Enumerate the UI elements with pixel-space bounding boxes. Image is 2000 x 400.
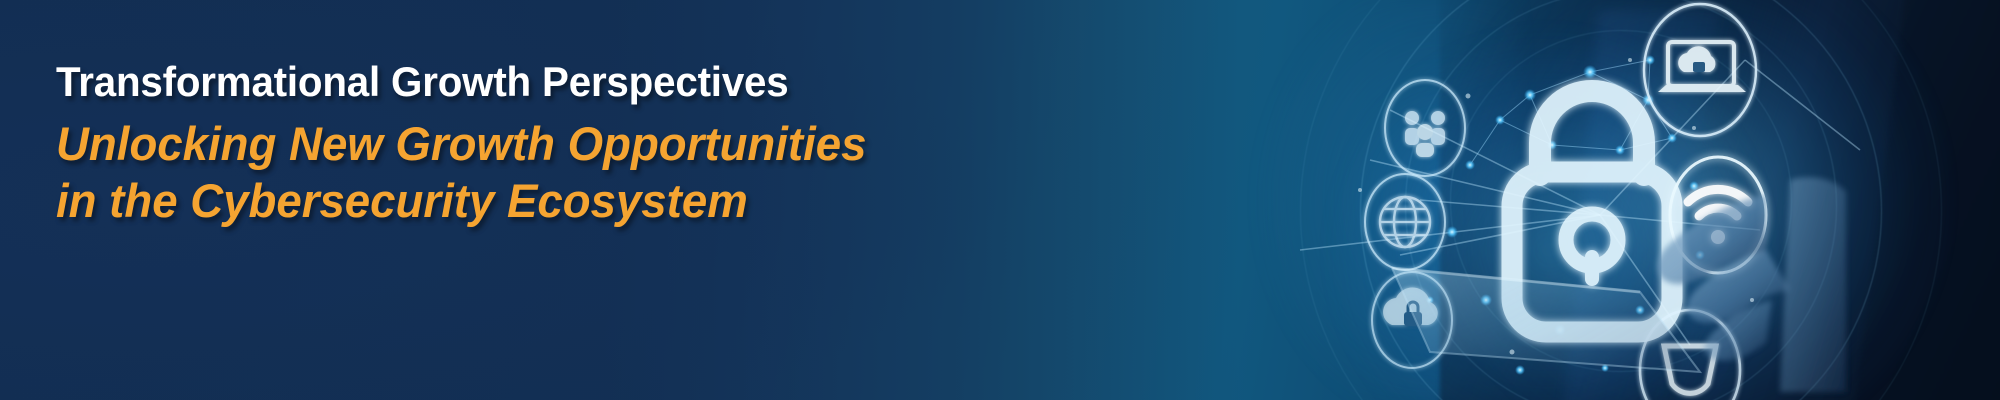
banner-copy: Transformational Growth Perspectives Unl… — [56, 60, 892, 229]
hero-banner: Transformational Growth Perspectives Unl… — [0, 0, 2000, 400]
banner-subtitle-line-1: Unlocking New Growth Opportunities — [56, 115, 866, 172]
banner-title: Transformational Growth Perspectives — [56, 60, 858, 105]
banner-subtitle-line-2: in the Cybersecurity Ecosystem — [56, 172, 866, 229]
